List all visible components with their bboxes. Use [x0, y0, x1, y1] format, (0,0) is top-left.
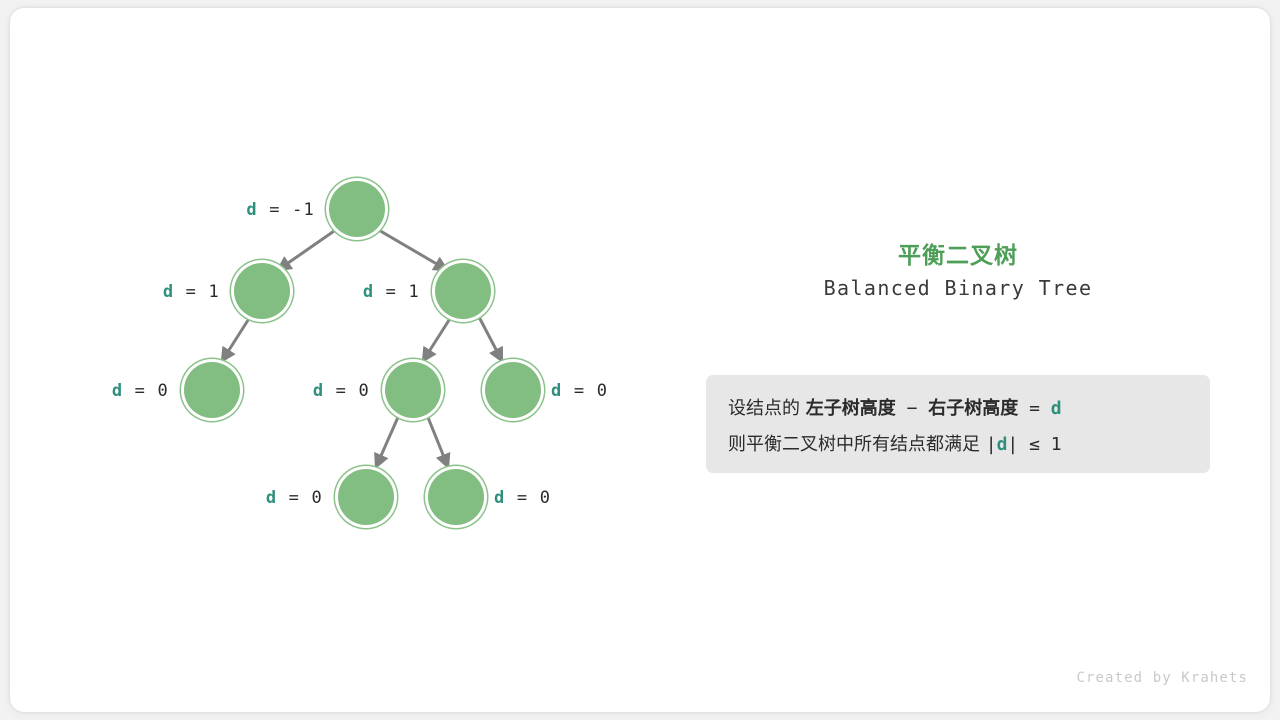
- def-l1-text1: 设结点的: [728, 398, 806, 419]
- info-panel: 平衡二叉树 Balanced Binary Tree 设结点的 左子树高度 − …: [706, 8, 1270, 712]
- tree-node-r[interactable]: [435, 263, 491, 319]
- node-label-root: d = -1: [140, 202, 315, 219]
- tree-node-rr[interactable]: [485, 362, 541, 418]
- tree-node-rlr[interactable]: [428, 469, 484, 525]
- definition-line-1: 设结点的 左子树高度 − 右子树高度 = d: [728, 391, 1188, 427]
- panel-title: 平衡二叉树: [706, 236, 1210, 270]
- panel-subtitle: Balanced Binary Tree: [706, 276, 1210, 300]
- def-l1-bold2: 右子树高度: [928, 398, 1018, 419]
- def-l2-d: d: [997, 434, 1008, 455]
- edge-n0-n2: [377, 229, 447, 270]
- edge-n2-n4: [423, 317, 451, 361]
- binary-tree-diagram: d = -1 d = 1 d = 1 d = 0 d = 0 d = 0 d =…: [10, 8, 690, 712]
- node-label-l: d = 1: [60, 284, 220, 301]
- def-l2-bar-open: |: [986, 434, 997, 455]
- def-l1-minus: −: [896, 398, 929, 419]
- definition-box: 设结点的 左子树高度 − 右子树高度 = d 则平衡二叉树中所有结点都满足 |d…: [706, 375, 1210, 473]
- def-l2-comparison: ≤ 1: [1018, 434, 1061, 455]
- credit-footer: Created by Krahets: [1076, 670, 1248, 686]
- tree-node-root[interactable]: [329, 181, 385, 237]
- tree-node-rl[interactable]: [385, 362, 441, 418]
- node-label-r: d = 1: [255, 284, 420, 301]
- def-l1-equals: =: [1018, 398, 1051, 419]
- node-label-rl: d = 0: [210, 383, 370, 400]
- node-label-ll: d = 0: [10, 383, 169, 400]
- edge-n4-n6: [376, 415, 399, 467]
- def-l2-text1: 则平衡二叉树中所有结点都满足: [728, 434, 986, 455]
- content-card: d = -1 d = 1 d = 1 d = 0 d = 0 d = 0 d =…: [10, 8, 1270, 712]
- def-l1-d: d: [1051, 398, 1062, 419]
- node-label-rll: d = 0: [160, 490, 323, 507]
- definition-line-2: 则平衡二叉树中所有结点都满足 |d| ≤ 1: [728, 427, 1188, 463]
- edge-n2-n5: [478, 315, 502, 361]
- node-label-rr: d = 0: [551, 383, 671, 400]
- edge-n1-n3: [222, 317, 250, 361]
- edge-n4-n7: [427, 415, 448, 467]
- page-root: d = -1 d = 1 d = 1 d = 0 d = 0 d = 0 d =…: [0, 0, 1280, 720]
- edge-n0-n1: [278, 229, 337, 270]
- node-label-rlr: d = 0: [494, 490, 614, 507]
- tree-edges: [10, 8, 690, 712]
- def-l1-bold1: 左子树高度: [806, 398, 896, 419]
- tree-node-rll[interactable]: [338, 469, 394, 525]
- def-l2-bar-close: |: [1007, 434, 1018, 455]
